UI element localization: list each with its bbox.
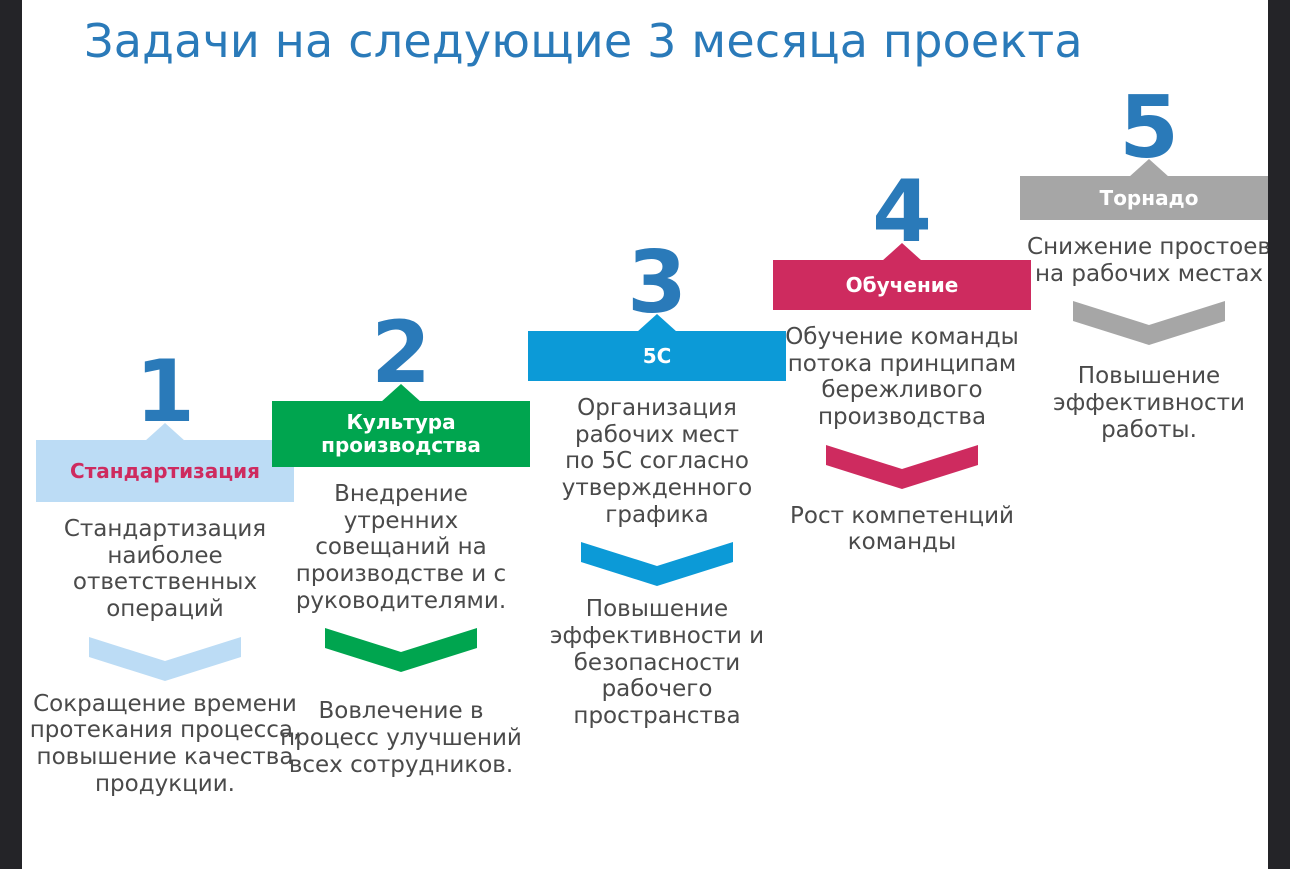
step-banner-wrap-1: Стандартизация (36, 440, 294, 502)
step-description-4: Обучение команды потока принципам бережл… (773, 324, 1031, 431)
chevron-down-icon-3 (581, 540, 733, 586)
step-banner-wrap-2: Культура производства (272, 401, 530, 467)
step-banner-5[interactable]: Торнадо (1020, 176, 1268, 220)
step-outcome-3: Повышение эффективности и безопасности р… (528, 596, 786, 729)
step-card-2[interactable]: 2 Культура производства Внедрение утренн… (272, 313, 530, 778)
step-banner-wrap-4: Обучение (773, 260, 1031, 310)
banner-notch-icon-3 (637, 314, 677, 332)
banner-notch-icon-5 (1129, 159, 1169, 177)
step-banner-wrap-3: 5С (528, 331, 786, 381)
step-description-3: Организация рабочих мест (528, 395, 786, 448)
chevron-down-icon-1 (89, 635, 241, 681)
step-banner-wrap-5: Торнадо (1020, 176, 1268, 220)
chevron-down-icon-2 (325, 626, 477, 672)
step-outcome-2: Вовлечение в процесс улучшений всех сотр… (272, 698, 530, 778)
slide-content-area: Задачи на следующие 3 месяца проекта 1 С… (22, 0, 1268, 869)
step-description-3b: по 5С согласно утвержденного графика (528, 448, 786, 528)
step-card-5[interactable]: 5 Торнадо Снижение простоев на рабочих м… (1020, 88, 1268, 443)
banner-notch-icon-2 (381, 384, 421, 402)
step-banner-2[interactable]: Культура производства (272, 401, 530, 467)
step-card-4[interactable]: 4 Обучение Обучение команды потока принц… (773, 172, 1031, 556)
step-description-1: Стандартизация наиболее ответственных оп… (36, 516, 294, 623)
step-banner-1[interactable]: Стандартизация (36, 440, 294, 502)
slide-edge-bar-right (1268, 0, 1290, 869)
step-outcome-4: Рост компетенций команды (773, 503, 1031, 556)
chevron-down-icon-5 (1073, 299, 1225, 345)
step-outcome-1: Сокращение времени протекания процесса, … (25, 691, 305, 798)
slide-canvas: Задачи на следующие 3 месяца проекта 1 С… (0, 0, 1290, 869)
step-description-2: Внедрение утренних совещаний на производ… (272, 481, 530, 614)
step-outcome-5: Повышение эффективности работы. (1020, 363, 1268, 443)
step-banner-3[interactable]: 5С (528, 331, 786, 381)
page-title: Задачи на следующие 3 месяца проекта (84, 14, 1204, 68)
step-banner-4[interactable]: Обучение (773, 260, 1031, 310)
step-description-5: Снижение простоев на рабочих местах (1020, 234, 1268, 287)
step-card-1[interactable]: 1 Стандартизация Стандартизация наиболее… (36, 352, 294, 797)
chevron-down-icon-4 (826, 443, 978, 489)
banner-notch-icon-1 (145, 423, 185, 441)
slide-edge-bar-left (0, 0, 22, 869)
banner-notch-icon-4 (882, 243, 922, 261)
step-card-3[interactable]: 3 5С Организация рабочих мест по 5С согл… (528, 243, 786, 730)
